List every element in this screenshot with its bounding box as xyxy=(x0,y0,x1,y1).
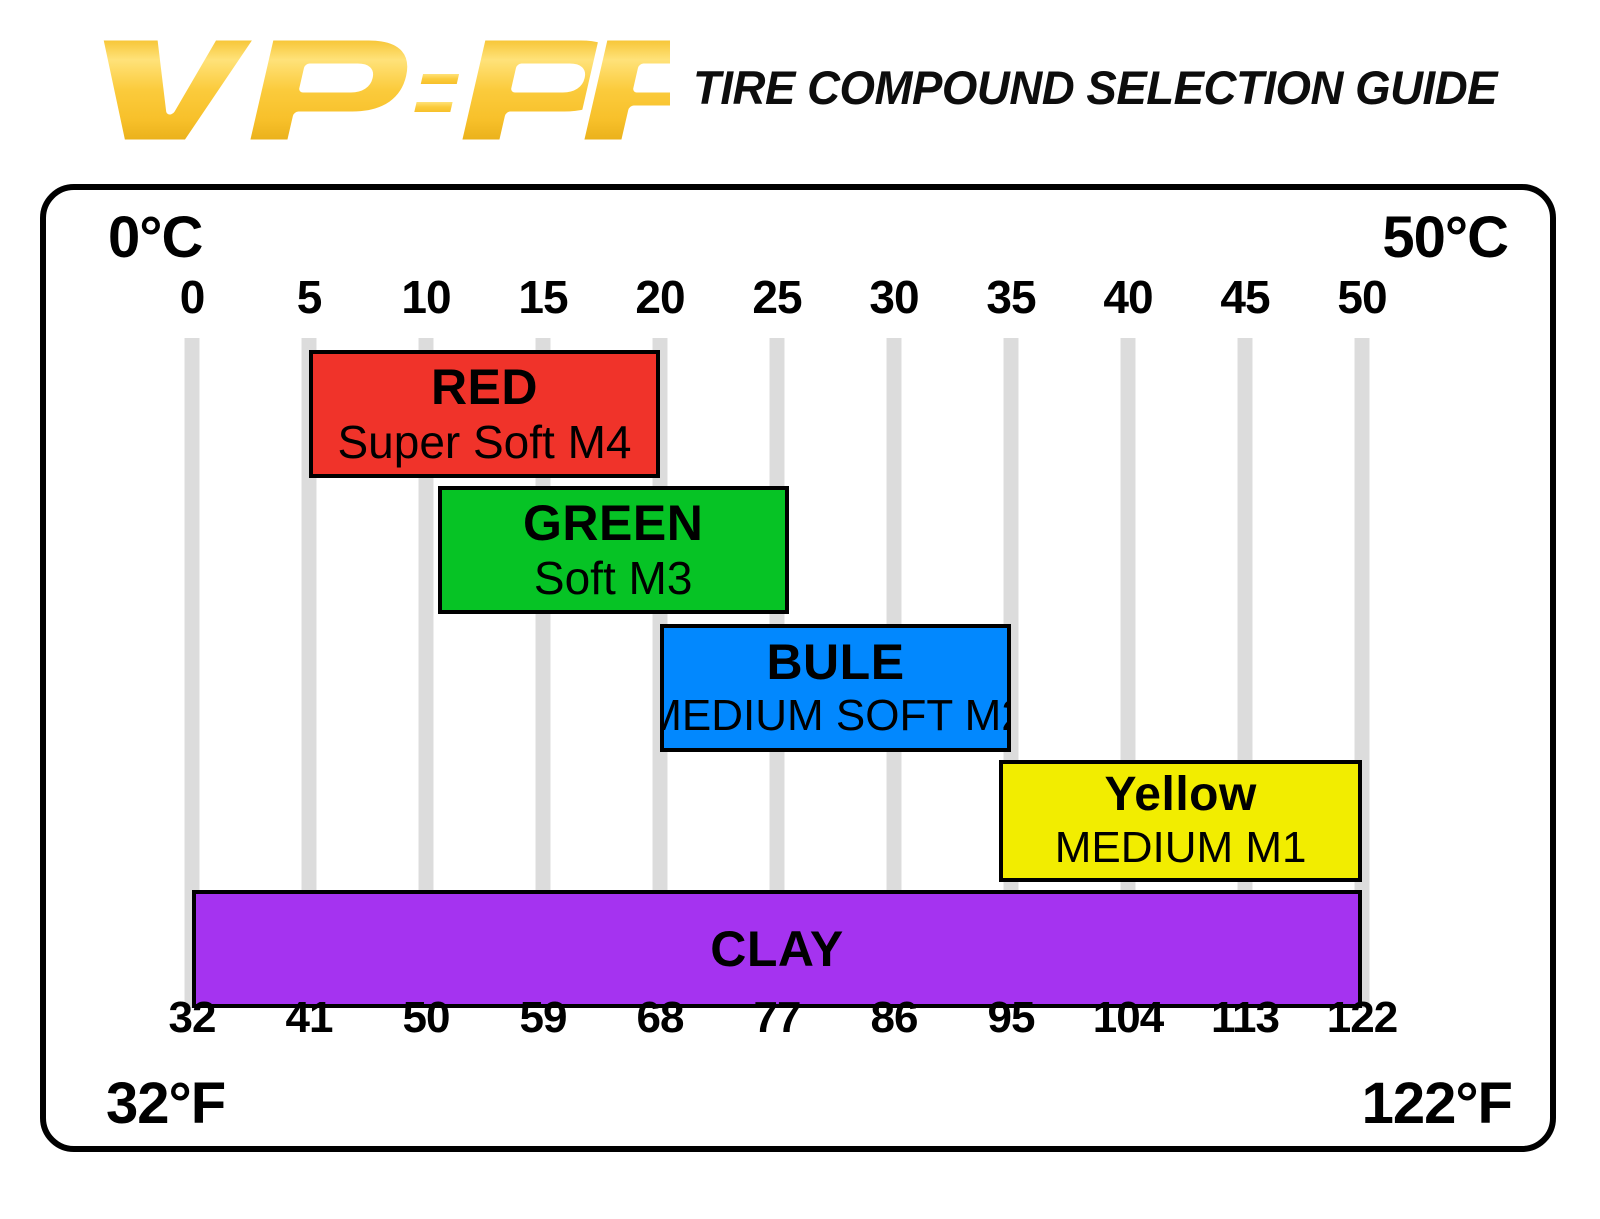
fahrenheit-tick-50: 50 xyxy=(403,996,450,1040)
compound-bar-yellow[interactable]: YellowMEDIUM M1 xyxy=(999,760,1362,882)
fahrenheit-tick-41: 41 xyxy=(286,996,333,1040)
compound-bar-yellow-subtitle: MEDIUM M1 xyxy=(1055,825,1307,871)
page-title: TIRE COMPOUND SELECTION GUIDE xyxy=(693,60,1497,115)
compound-bar-red-subtitle: Super Soft M4 xyxy=(337,418,631,466)
compound-bar-red[interactable]: REDSuper Soft M4 xyxy=(309,350,660,478)
fahrenheit-tick-113: 113 xyxy=(1211,996,1279,1040)
fahrenheit-tick-59: 59 xyxy=(520,996,567,1040)
page-header: TIRE COMPOUND SELECTION GUIDE xyxy=(0,0,1600,172)
fahrenheit-tick-86: 86 xyxy=(871,996,918,1040)
compound-bar-yellow-title: Yellow xyxy=(1104,771,1256,819)
compound-bar-clay[interactable]: CLAY xyxy=(192,890,1362,1008)
fahrenheit-tick-122: 122 xyxy=(1327,996,1397,1040)
compound-bar-blue-title: BULE xyxy=(766,637,904,687)
compound-bar-green[interactable]: GREENSoft M3 xyxy=(438,486,789,614)
compound-bar-red-title: RED xyxy=(431,362,538,412)
compound-bar-blue-subtitle: MEDIUM SOFT M2 xyxy=(660,693,1011,739)
fahrenheit-tick-32: 32 xyxy=(169,996,216,1040)
compound-bar-blue[interactable]: BULEMEDIUM SOFT M2 xyxy=(660,624,1011,752)
compound-bar-clay-title: CLAY xyxy=(710,924,844,974)
compound-chart-panel: 0°C 50°C 32°F 122°F 05101520253035404550… xyxy=(40,184,1556,1152)
fahrenheit-tick-95: 95 xyxy=(988,996,1035,1040)
compound-bar-green-subtitle: Soft M3 xyxy=(534,554,693,602)
compound-bar-green-title: GREEN xyxy=(523,498,703,548)
temperature-chart: 0°C 50°C 32°F 122°F 05101520253035404550… xyxy=(46,190,1562,1158)
vp-pro-logo xyxy=(30,18,670,158)
fahrenheit-axis: 3241505968778695104113122 xyxy=(46,996,1562,1052)
fahrenheit-tick-77: 77 xyxy=(754,996,801,1040)
fahrenheit-tick-104: 104 xyxy=(1093,996,1163,1040)
fahrenheit-tick-68: 68 xyxy=(637,996,684,1040)
